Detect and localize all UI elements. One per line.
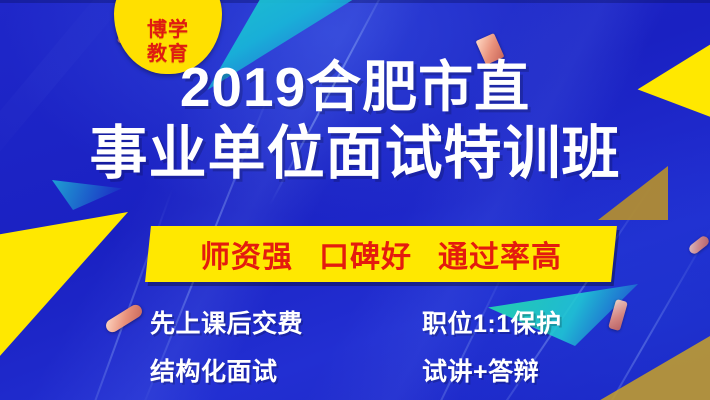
headline-block: 2019合肥市直 事业单位面试特训班 [0, 56, 710, 188]
slogan-text-row: 师资强 口碑好 通过率高 [148, 226, 614, 282]
slogan-item-3: 通过率高 [438, 232, 562, 276]
feature-item: 结构化面试 [150, 352, 350, 388]
promo-poster: 博学 教育 2019合肥市直 事业单位面试特训班 师资强 口碑好 通过率高 先上… [0, 0, 710, 400]
headline-line-2: 事业单位面试特训班 [0, 120, 710, 188]
feature-item: 职位1:1保护 [380, 304, 580, 340]
slogan-item-2: 口碑好 [319, 232, 412, 276]
feature-item: 先上课后交费 [150, 304, 350, 340]
feature-item: 试讲+答辩 [380, 352, 580, 388]
feature-grid: 先上课后交费 职位1:1保护 结构化面试 试讲+答辩 [150, 304, 580, 388]
headline-line-1: 2019合肥市直 [0, 56, 710, 118]
slogan-item-1: 师资强 [200, 232, 293, 276]
brand-logo-line-top: 博学 [147, 20, 189, 42]
